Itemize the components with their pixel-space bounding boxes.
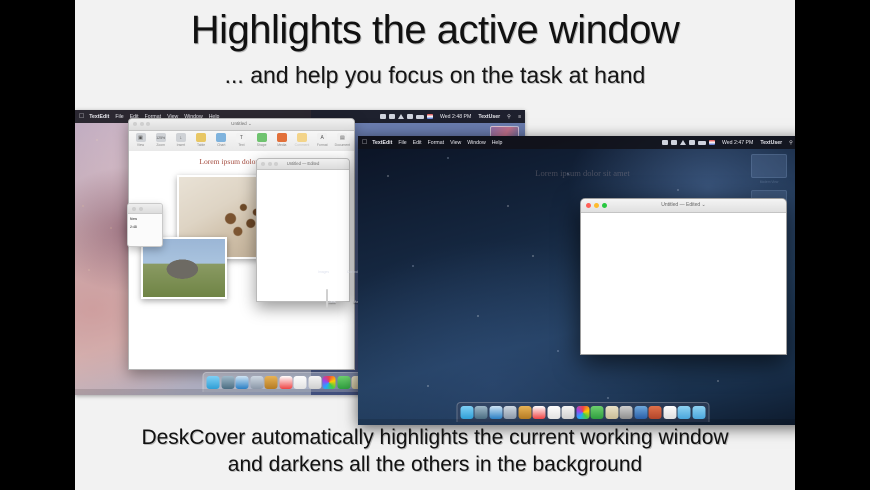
safari-icon[interactable]: [236, 376, 249, 389]
menubar-status-area[interactable]: Wed 2:47 PM TextUser ⚲ ≡: [662, 140, 795, 146]
flag-icon[interactable]: [427, 114, 433, 119]
safari-icon[interactable]: [489, 406, 502, 419]
mini-window-line1: New: [128, 214, 162, 222]
maps-icon[interactable]: [605, 406, 618, 419]
airplay-icon[interactable]: [689, 140, 695, 145]
toolbar-label-document: Document: [335, 143, 350, 147]
document-toolbar[interactable]: ▣ View 125% Zoom ↓ Insert Table: [129, 131, 354, 152]
bluetooth-icon[interactable]: [389, 114, 395, 119]
active-desktop-screenshot[interactable]:  TextEdit File Edit Format View Window …: [358, 136, 795, 425]
finder-icon[interactable]: [207, 376, 220, 389]
mail-icon[interactable]: [221, 376, 234, 389]
notes-icon[interactable]: [265, 376, 278, 389]
toolbar-item-document[interactable]: ▤ Document: [334, 133, 351, 147]
textedit-window-title: Untitled — Edited: [257, 161, 349, 166]
wifi-icon[interactable]: [398, 114, 404, 119]
preview-icon[interactable]: [620, 406, 633, 419]
comment-icon: [297, 133, 307, 142]
toolbar-item-insert[interactable]: ↓ Insert: [172, 133, 189, 147]
slide-canvas: Highlights the active window ... and hel…: [0, 0, 870, 490]
toolbar-item-chart[interactable]: Chart: [213, 133, 230, 147]
table-icon: [196, 133, 206, 142]
battery-icon[interactable]: [698, 141, 706, 145]
toolbar-label-zoom: Zoom: [156, 143, 165, 147]
active-window-titlebar[interactable]: Untitled — Edited ⌄: [581, 199, 786, 213]
finder-icon[interactable]: [460, 406, 473, 419]
toolbar-item-view[interactable]: ▣ View: [132, 133, 149, 147]
toolbar-item-media[interactable]: Media: [273, 133, 290, 147]
page-title: Highlights the active window: [75, 8, 795, 53]
caption-line-2: and darkens all the others in the backgr…: [75, 452, 795, 479]
mini-window-line2: 2:48: [128, 222, 162, 230]
apple-menu-icon[interactable]: : [362, 139, 367, 146]
menubar-user[interactable]: TextUser: [478, 114, 500, 120]
toolbar-item-shape[interactable]: Shape: [253, 133, 270, 147]
airplay-icon[interactable]: [407, 114, 413, 119]
downloads-folder-icon[interactable]: [692, 406, 705, 419]
toolbar-label-format: Format: [317, 143, 328, 147]
format-icon: A: [317, 133, 327, 142]
flag-icon[interactable]: [709, 140, 715, 145]
toolbar-item-text[interactable]: T Text: [233, 133, 250, 147]
photos-icon[interactable]: [323, 376, 336, 389]
active-window-title: Untitled — Edited ⌄: [581, 202, 786, 208]
document-icon: ▤: [337, 133, 347, 142]
menubar-status-area[interactable]: Wed 2:48 PM TextUser ⚲ ≡: [380, 114, 521, 120]
insert-icon: ↓: [176, 133, 186, 142]
page-subtitle: ... and help you focus on the task at ha…: [75, 62, 795, 89]
reminders-icon[interactable]: [547, 406, 560, 419]
text-icon: T: [236, 133, 246, 142]
toolbar-item-table[interactable]: Table: [193, 133, 210, 147]
toolbar-label-insert: Insert: [177, 143, 185, 147]
desktop-icon-java[interactable]: Java: [318, 290, 344, 308]
dimmed-document-text: Lorem ipsum dolor sit amet: [358, 168, 795, 178]
toolbar-item-comment[interactable]: Comment: [294, 133, 311, 147]
facetime-icon[interactable]: [337, 376, 350, 389]
menu-item-view[interactable]: View: [450, 140, 461, 146]
dimmed-thumb-label-1: Modern View: [743, 180, 795, 185]
display-icon[interactable]: [380, 114, 386, 119]
battery-icon[interactable]: [416, 115, 424, 119]
zoom-level-icon: 125%: [156, 133, 166, 142]
reminders-icon[interactable]: [294, 376, 307, 389]
chart-icon: [216, 133, 226, 142]
toolbar-label-chart: Chart: [217, 143, 225, 147]
photos-icon[interactable]: [576, 406, 589, 419]
mail-icon[interactable]: [475, 406, 488, 419]
menu-item-help[interactable]: Help: [492, 140, 503, 146]
inactive-textedit-window[interactable]: Untitled — Edited: [256, 158, 350, 302]
menu-item-edit[interactable]: Edit: [413, 140, 422, 146]
toolbar-label-text: Text: [238, 143, 244, 147]
messages-icon[interactable]: [562, 406, 575, 419]
caption-line-1: DeskCover automatically highlights the c…: [75, 425, 795, 452]
menu-item-file[interactable]: File: [115, 114, 123, 120]
mini-minimize-button[interactable]: [139, 207, 143, 211]
shape-icon: [257, 133, 267, 142]
document-window-title: Untitled ⌄: [129, 121, 354, 127]
appstore-icon[interactable]: [649, 406, 662, 419]
mini-window-titlebar[interactable]: [128, 204, 162, 214]
menu-item-format[interactable]: Format: [428, 140, 444, 146]
toolbar-label-comment: Comment: [295, 143, 310, 147]
java-app-icon: [326, 289, 328, 308]
inactive-mini-window[interactable]: New 2:48: [127, 203, 163, 247]
spotlight-search-icon[interactable]: ⚲: [789, 140, 793, 146]
apple-menu-icon[interactable]: : [79, 113, 84, 120]
toolbar-label-view: View: [137, 143, 144, 147]
mini-close-button[interactable]: [132, 207, 136, 211]
view-icon: ▣: [136, 133, 146, 142]
menu-app-name[interactable]: TextEdit: [372, 140, 392, 146]
desktop-icon-label-java: Java: [328, 300, 335, 304]
slide-caption: DeskCover automatically highlights the c…: [75, 425, 795, 479]
dimmed-thumb-1: [751, 154, 787, 178]
toolbar-item-format[interactable]: A Format: [314, 133, 331, 147]
spotlight-search-icon[interactable]: ⚲: [507, 114, 511, 120]
media-icon: [277, 133, 287, 142]
menubar-clock[interactable]: Wed 2:47 PM: [722, 140, 753, 146]
toolbar-label-shape: Shape: [257, 143, 267, 147]
menu-app-name[interactable]: TextEdit: [89, 114, 109, 120]
slide-background: Highlights the active window ... and hel…: [75, 0, 795, 490]
document-window-titlebar[interactable]: Untitled ⌄: [129, 119, 354, 131]
calendar-icon[interactable]: [279, 376, 292, 389]
contacts-icon[interactable]: [504, 406, 517, 419]
toolbar-item-zoom[interactable]: 125% Zoom: [152, 133, 169, 147]
menu-item-file[interactable]: File: [398, 140, 406, 146]
toolbar-label-media: Media: [277, 143, 286, 147]
contacts-icon[interactable]: [250, 376, 263, 389]
textedit-titlebar[interactable]: Untitled — Edited: [257, 159, 349, 170]
notification-center-icon[interactable]: ≡: [518, 114, 521, 120]
active-textedit-window[interactable]: Untitled — Edited ⌄: [580, 198, 787, 355]
notes-icon[interactable]: [518, 406, 531, 419]
bluetooth-icon[interactable]: [671, 140, 677, 145]
toolbar-label-table: Table: [197, 143, 205, 147]
textedit-icon[interactable]: [663, 406, 676, 419]
messages-icon[interactable]: [308, 376, 321, 389]
group-label-images: Images: [318, 270, 329, 274]
active-menubar[interactable]:  TextEdit File Edit Format View Window …: [358, 136, 795, 149]
wifi-icon[interactable]: [680, 140, 686, 145]
documents-folder-icon[interactable]: [678, 406, 691, 419]
mini-window-traffic-lights[interactable]: [132, 207, 143, 211]
menu-item-window[interactable]: Window: [467, 140, 485, 146]
itunes-icon[interactable]: [634, 406, 647, 419]
display-icon[interactable]: [662, 140, 668, 145]
menubar-user[interactable]: TextUser: [760, 140, 782, 146]
calendar-icon[interactable]: [533, 406, 546, 419]
menubar-clock[interactable]: Wed 2:48 PM: [440, 114, 471, 120]
facetime-icon[interactable]: [591, 406, 604, 419]
